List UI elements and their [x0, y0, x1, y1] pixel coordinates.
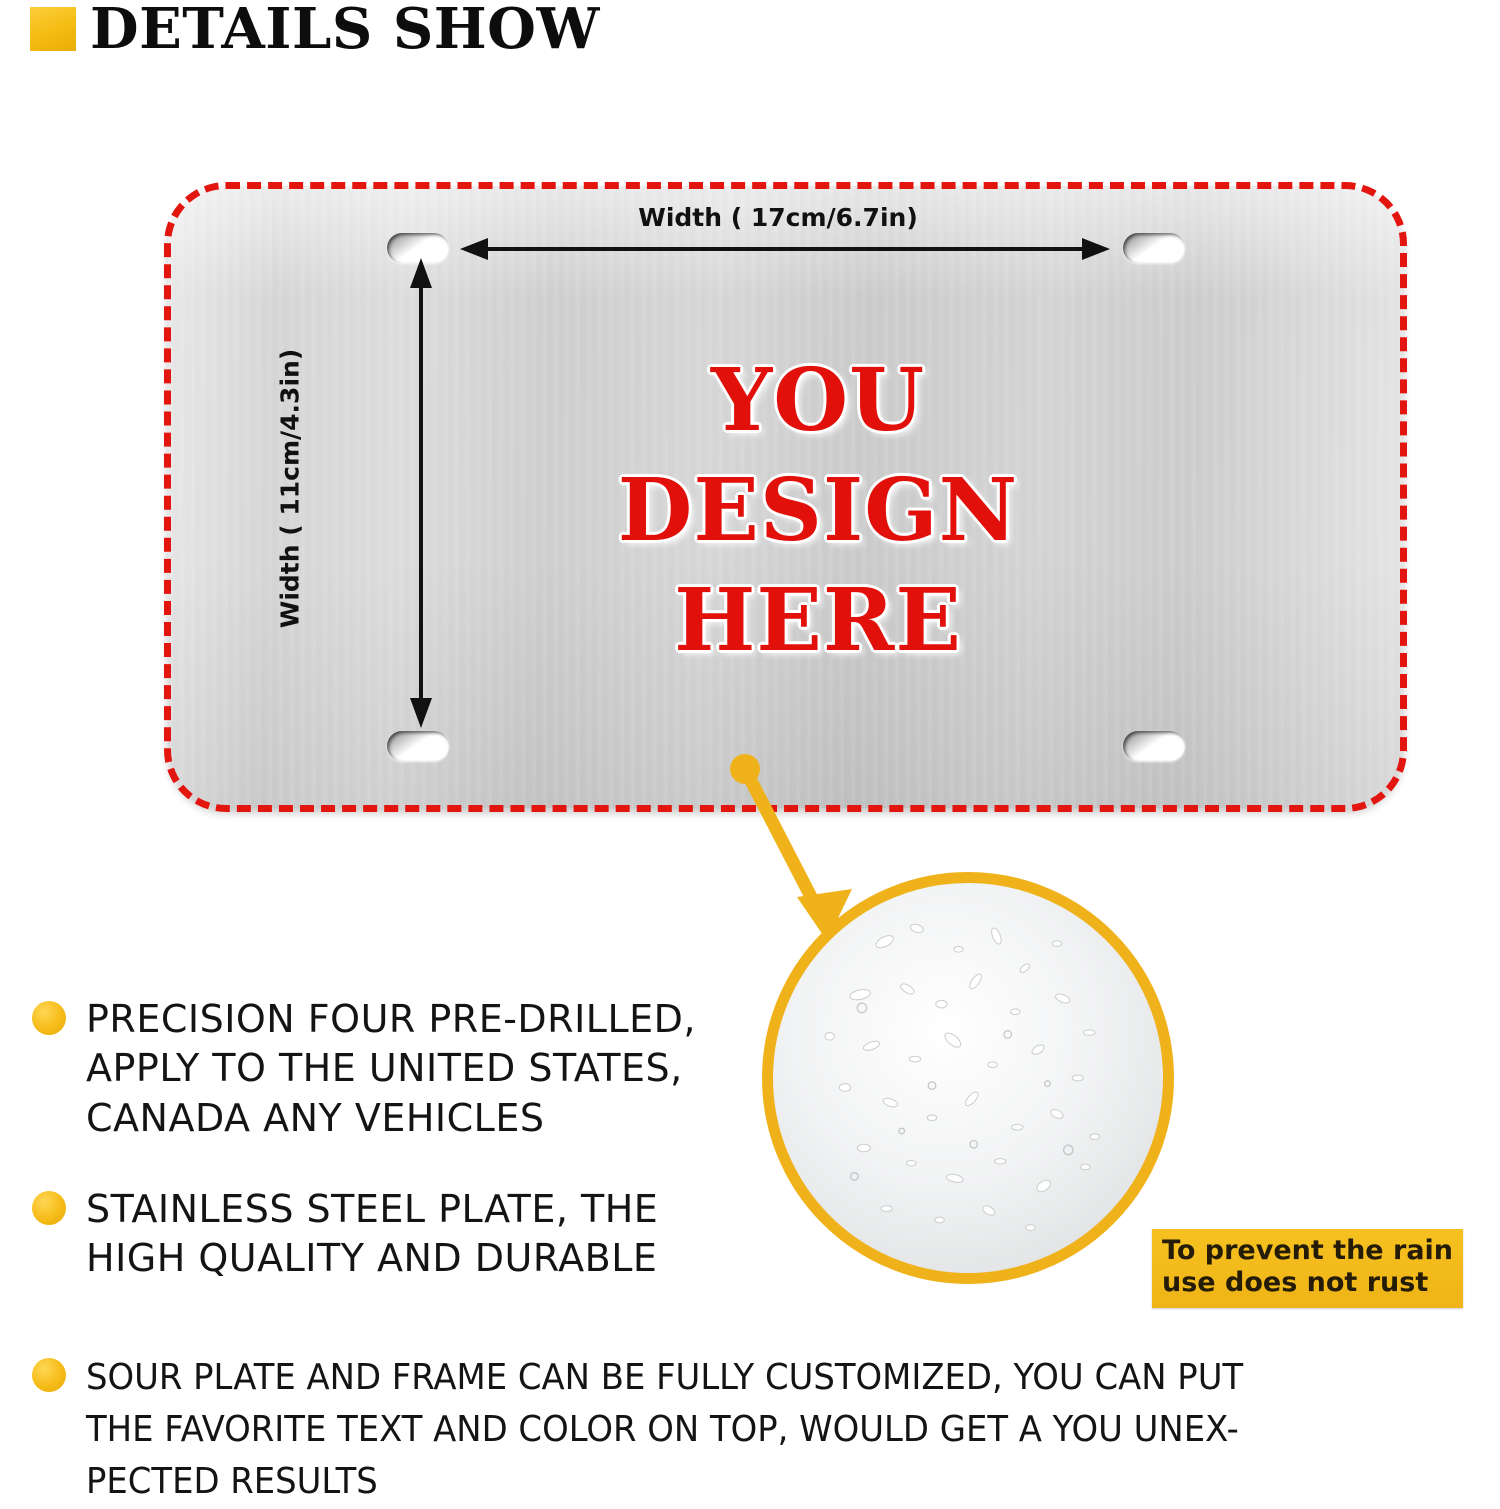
- macro-detail-circle: [762, 872, 1174, 1284]
- mounting-hole-top-right: [1123, 233, 1185, 263]
- water-droplets-icon: [773, 883, 1163, 1273]
- feature-text: PRECISION FOUR PRE-DRILLED, APPLY TO THE…: [86, 995, 696, 1143]
- list-item: PRECISION FOUR PRE-DRILLED, APPLY TO THE…: [32, 995, 772, 1143]
- mounting-hole-bottom-right: [1123, 731, 1185, 761]
- list-item: SOUR PLATE AND FRAME CAN BE FULLY CUSTOM…: [32, 1352, 1482, 1509]
- bullet-dot-icon: [32, 1358, 66, 1392]
- feature-text: SOUR PLATE AND FRAME CAN BE FULLY CUSTOM…: [86, 1352, 1243, 1509]
- plate-design-text: YOU DESIGN HERE: [528, 346, 1108, 676]
- list-item: STAINLESS STEEL PLATE, THE HIGH QUALITY …: [32, 1185, 772, 1284]
- height-dimension-label: Width ( 11cm/4.3in): [276, 339, 305, 639]
- header-accent-square: [30, 7, 76, 51]
- width-dimension-label: Width ( 17cm/6.7in): [468, 203, 1088, 232]
- page-header: DETAILS SHOW: [0, 0, 1500, 70]
- width-dimension-arrow-icon: [460, 236, 1110, 262]
- bullet-dot-icon: [32, 1191, 66, 1225]
- page-title: DETAILS SHOW: [90, 0, 600, 64]
- height-dimension-arrow-icon: [408, 258, 434, 728]
- mounting-hole-bottom-left: [387, 731, 449, 761]
- license-plate-illustration: Width ( 17cm/6.7in) Width ( 11cm/4.3in) …: [168, 186, 1403, 808]
- status-badge: To prevent the rain use does not rust: [1152, 1229, 1463, 1308]
- feature-text: STAINLESS STEEL PLATE, THE HIGH QUALITY …: [86, 1185, 658, 1284]
- bullet-dot-icon: [32, 1001, 66, 1035]
